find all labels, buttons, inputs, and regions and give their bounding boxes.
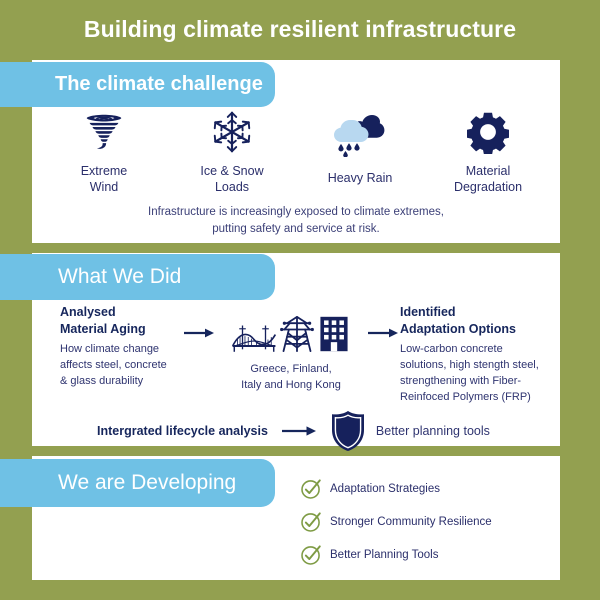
hazard-material-degradation: Material Degradation (431, 108, 546, 195)
check-circle-icon (300, 511, 330, 533)
section-header-we-are-developing: We are Developing (0, 459, 275, 507)
pylon-icon (279, 315, 315, 358)
section-header-climate-challenge: The climate challenge (0, 62, 275, 107)
hazard-label: Material Degradation (431, 163, 546, 195)
hazard-ice-snow-loads: Ice & Snow Loads (175, 108, 290, 195)
list-item-label: Stronger Community Resilience (330, 516, 492, 528)
list-item: Stronger Community Resilience (300, 505, 560, 538)
gear-icon (431, 108, 546, 156)
lifecycle-analysis-row: Intergrated lifecycle analysis Better pl… (97, 410, 517, 452)
step-title: Analysed Material Aging (60, 304, 182, 337)
building-icon (317, 315, 351, 358)
hazard-label: Heavy Rain (303, 170, 418, 186)
shield-icon (330, 410, 366, 452)
bridge-icon (231, 321, 277, 358)
climate-challenge-caption: Infrastructure is increasingly exposed t… (60, 204, 532, 239)
tornado-icon (47, 108, 162, 156)
snowflake-icon (175, 108, 290, 156)
page-title: Building climate resilient infrastructur… (0, 16, 600, 43)
hazard-label: Extreme Wind (47, 163, 162, 195)
infrastructure-icon-group (216, 316, 366, 358)
hazard-heavy-rain: Heavy Rain (303, 108, 418, 186)
list-item: Better Planning Tools (300, 538, 560, 571)
arrow-right-icon-1 (182, 300, 216, 340)
step-body: How climate change affects steel, concre… (60, 342, 182, 390)
step-case-study-locations: Greece, Finland, Italy and Hong Kong (216, 300, 366, 394)
case-study-locations-label: Greece, Finland, Italy and Hong Kong (216, 362, 366, 394)
section-header-what-we-did: What We Did (0, 254, 275, 300)
section-header-label: We are Developing (0, 471, 236, 495)
step-analysed-material-aging: Analysed Material Aging How climate chan… (60, 300, 182, 390)
section-header-label: The climate challenge (0, 73, 263, 96)
hazard-icon-row: Extreme Wind (40, 108, 552, 195)
hazard-label: Ice & Snow Loads (175, 163, 290, 195)
section-header-label: What We Did (0, 265, 181, 289)
list-item: Adaptation Strategies (300, 472, 560, 505)
arrow-right-icon-2 (366, 300, 400, 340)
infographic-page: Building climate resilient infrastructur… (0, 0, 600, 600)
check-circle-icon (300, 544, 330, 566)
step-body: Low-carbon concrete solutions, high sten… (400, 342, 560, 406)
hazard-extreme-wind: Extreme Wind (47, 108, 162, 195)
developing-list: Adaptation Strategies Stronger Community… (300, 472, 560, 571)
arrow-right-icon-3 (282, 424, 316, 438)
check-circle-icon (300, 478, 330, 500)
lifecycle-result-label: Better planning tools (376, 424, 490, 438)
lifecycle-label: Intergrated lifecycle analysis (97, 424, 268, 438)
what-we-did-flow: Analysed Material Aging How climate chan… (60, 300, 560, 406)
step-identified-adaptation-options: Identified Adaptation Options Low-carbon… (400, 300, 560, 406)
rain-cloud-icon (303, 108, 418, 156)
list-item-label: Better Planning Tools (330, 549, 438, 561)
list-item-label: Adaptation Strategies (330, 483, 440, 495)
step-title: Identified Adaptation Options (400, 304, 560, 337)
